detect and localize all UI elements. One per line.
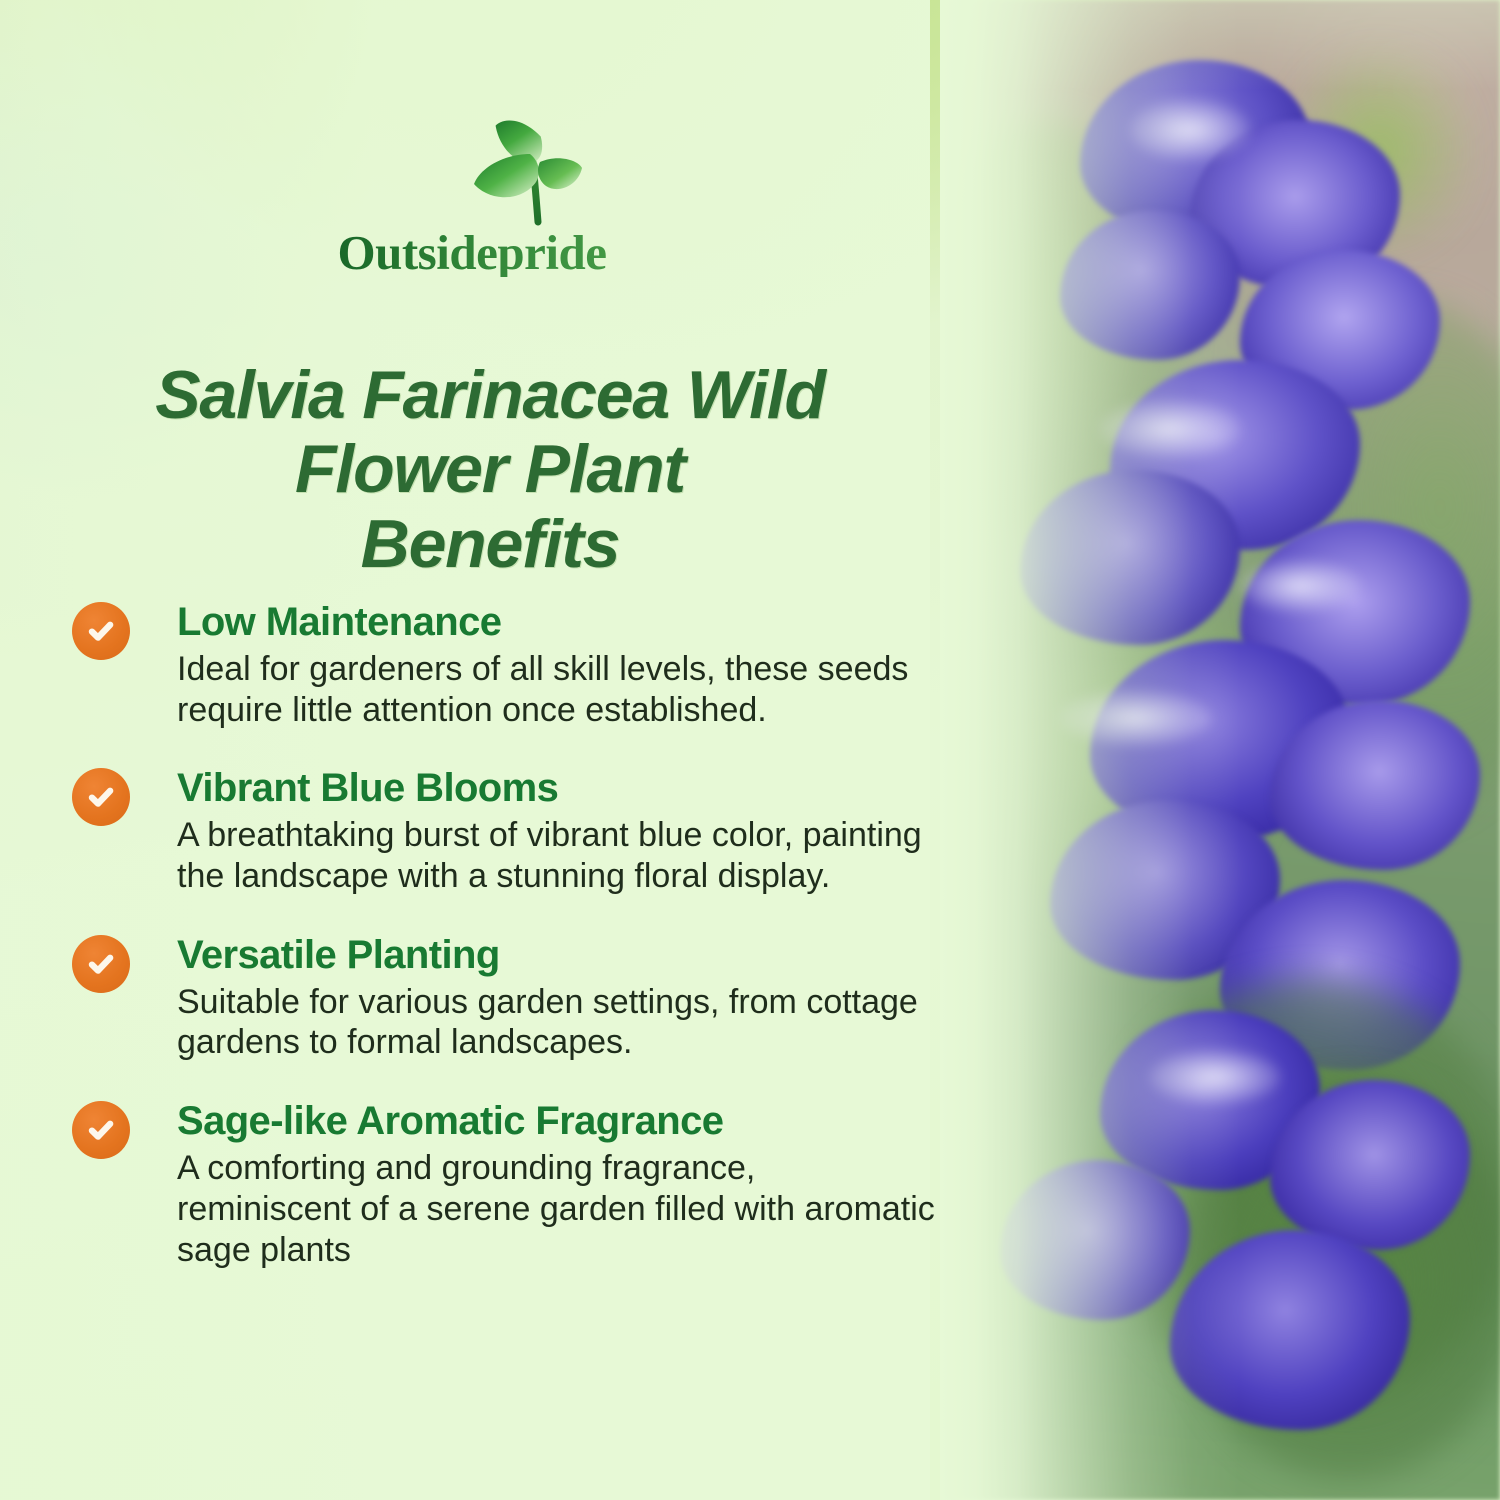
benefit-title: Low Maintenance xyxy=(177,600,942,645)
benefit-item: Versatile Planting Suitable for various … xyxy=(72,933,942,1063)
title-line-3: Benefits xyxy=(40,507,940,582)
title-line-1: Salvia Farinacea Wild xyxy=(40,358,940,433)
photo-left-fade xyxy=(940,0,1240,1500)
brand-wordmark: Outsidepride xyxy=(282,228,662,277)
check-circle-icon xyxy=(72,768,130,826)
title-line-2: Flower Plant xyxy=(40,432,940,507)
seedling-leaves-icon xyxy=(460,110,590,232)
check-circle-icon xyxy=(72,602,130,660)
petal-highlight xyxy=(1240,560,1360,612)
benefit-title: Vibrant Blue Blooms xyxy=(177,766,942,811)
benefit-description: A breathtaking burst of vibrant blue col… xyxy=(177,815,937,897)
benefit-item: Sage-like Aromatic Fragrance A comfortin… xyxy=(72,1099,942,1270)
benefits-list: Low Maintenance Ideal for gardeners of a… xyxy=(72,600,942,1270)
benefit-item: Vibrant Blue Blooms A breathtaking burst… xyxy=(72,766,942,896)
check-circle-icon xyxy=(72,1101,130,1159)
benefit-title: Versatile Planting xyxy=(177,933,942,978)
benefit-description: Ideal for gardeners of all skill levels,… xyxy=(177,649,937,731)
benefit-item: Low Maintenance Ideal for gardeners of a… xyxy=(72,600,942,730)
brand-logo[interactable]: Outsidepride xyxy=(282,110,662,285)
check-circle-icon xyxy=(72,935,130,993)
benefit-title: Sage-like Aromatic Fragrance xyxy=(177,1099,942,1144)
page-title: Salvia Farinacea Wild Flower Plant Benef… xyxy=(40,358,940,582)
product-benefits-poster: Outsidepride Salvia Farinacea Wild Flowe… xyxy=(0,0,1500,1500)
flower-photo xyxy=(940,0,1500,1500)
benefit-description: A comforting and grounding fragrance, re… xyxy=(177,1148,937,1270)
benefit-description: Suitable for various garden settings, fr… xyxy=(177,982,937,1064)
